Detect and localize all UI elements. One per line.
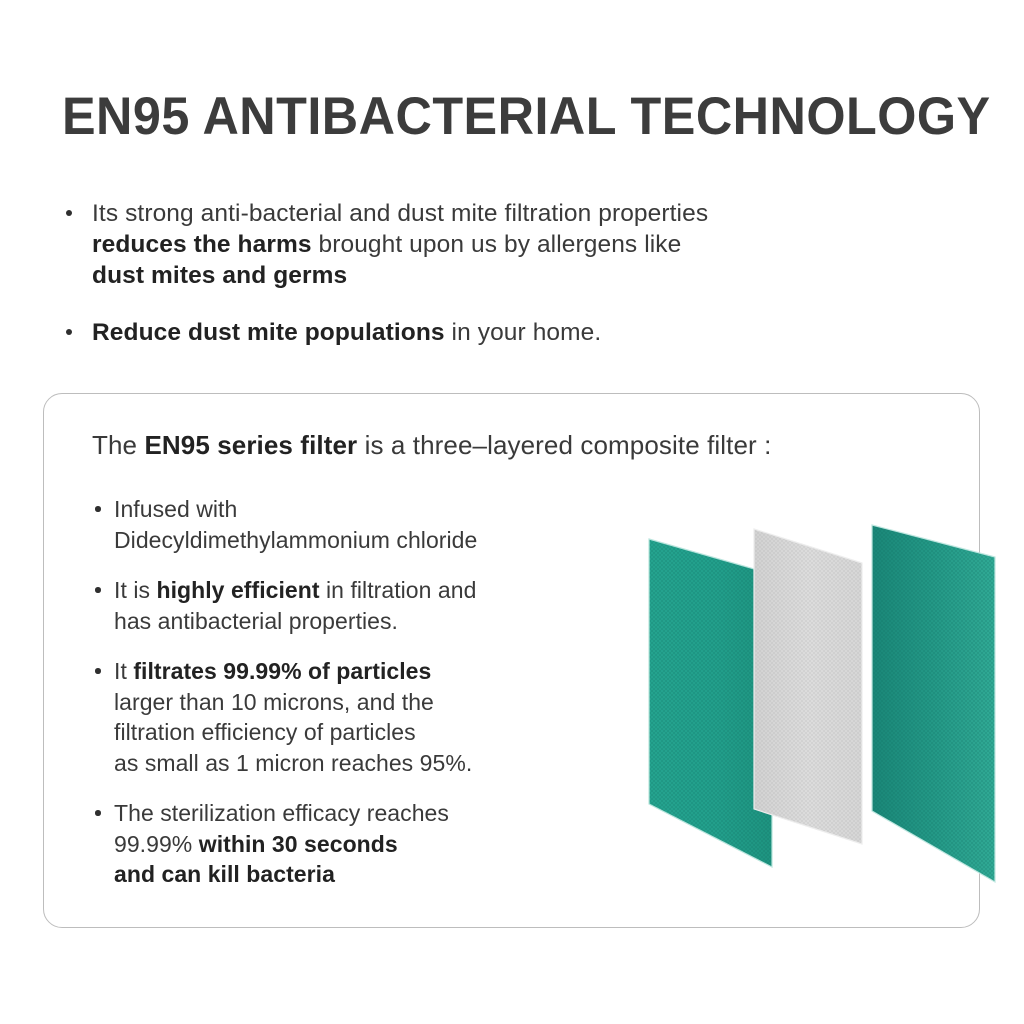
bullet-dot-icon bbox=[95, 506, 101, 512]
intro-bullet-1-line-1: Its strong anti-bacterial and dust mite … bbox=[92, 198, 940, 229]
card-bullet-item-1: Infused with Didecyldimethylammonium chl… bbox=[92, 494, 602, 555]
card-bullet-item-2: It is highly efficient in filtration and… bbox=[92, 575, 602, 636]
card-bullet-3-line-4: as small as 1 micron reaches 95%. bbox=[114, 748, 602, 779]
poster-page: EN95 ANTIBACTERIAL TECHNOLOGY Its strong… bbox=[0, 0, 1024, 1024]
card-bullet-list: Infused with Didecyldimethylammonium chl… bbox=[92, 494, 602, 890]
three-layer-filter-diagram bbox=[604, 499, 1004, 909]
filter-info-card: The EN95 series filter is a three–layere… bbox=[43, 393, 980, 928]
card-bullet-2-line-2: has antibacterial properties. bbox=[114, 606, 602, 637]
bullet-dot-icon bbox=[95, 587, 101, 593]
intro-bullet-1-line-2: reduces the harms brought upon us by all… bbox=[92, 229, 940, 260]
card-bullet-item-3: It filtrates 99.99% of particles larger … bbox=[92, 656, 602, 778]
bullet-dot-icon bbox=[66, 329, 72, 335]
card-bullet-4-line-3: and can kill bacteria bbox=[114, 859, 602, 890]
card-bullet-item-4: The sterilization efficacy reaches 99.99… bbox=[92, 798, 602, 890]
intro-bullet-1-line-3: dust mites and germs bbox=[92, 260, 940, 291]
card-bullet-4-line-2: 99.99% within 30 seconds bbox=[114, 829, 602, 860]
card-heading: The EN95 series filter is a three–layere… bbox=[92, 429, 771, 461]
card-bullet-1-line-1: Infused with bbox=[114, 494, 602, 525]
filter-layer-3-inner-antibacterial bbox=[872, 525, 995, 882]
card-bullet-3-line-2: larger than 10 microns, and the bbox=[114, 687, 602, 718]
bullet-dot-icon bbox=[95, 668, 101, 674]
intro-bullet-item-2: Reduce dust mite populations in your hom… bbox=[60, 317, 940, 348]
card-bullet-3-line-1: It filtrates 99.99% of particles bbox=[114, 656, 602, 687]
intro-bullet-list: Its strong anti-bacterial and dust mite … bbox=[60, 198, 940, 348]
intro-bullet-item-1: Its strong anti-bacterial and dust mite … bbox=[60, 198, 940, 291]
bullet-dot-icon bbox=[95, 810, 101, 816]
card-bullet-3-line-3: filtration efficiency of particles bbox=[114, 717, 602, 748]
intro-bullet-2-line-1: Reduce dust mite populations in your hom… bbox=[92, 317, 940, 348]
card-bullet-1-line-2: Didecyldimethylammonium chloride bbox=[114, 525, 602, 556]
page-title: EN95 ANTIBACTERIAL TECHNOLOGY bbox=[62, 88, 991, 146]
bullet-dot-icon bbox=[66, 210, 72, 216]
card-bullet-2-line-1: It is highly efficient in filtration and bbox=[114, 575, 602, 606]
filter-layer-2-middle-mesh bbox=[754, 529, 862, 844]
card-bullet-4-line-1: The sterilization efficacy reaches bbox=[114, 798, 602, 829]
